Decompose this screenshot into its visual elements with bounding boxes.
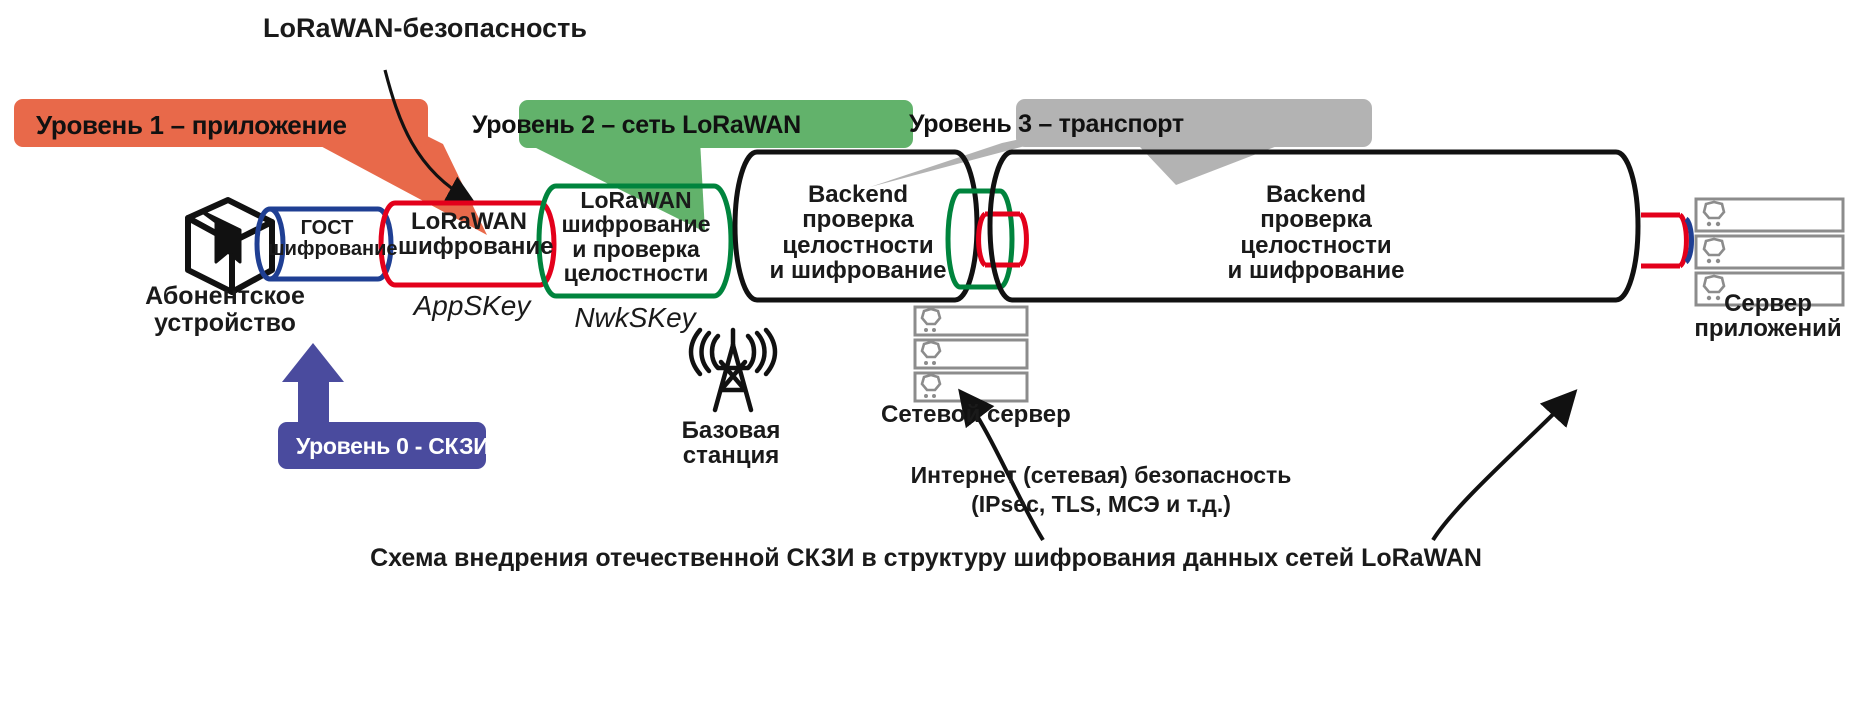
label-network-server: Сетевой сервер — [881, 402, 1061, 427]
server-rack-network-icon — [915, 307, 1027, 401]
tube-backend-2-label: Backend проверка целостности и шифровани… — [1205, 182, 1427, 284]
diagram-caption: Схема внедрения отечественной СКЗИ в стр… — [126, 545, 1726, 572]
label-nwkskey: NwkSKey — [555, 303, 715, 333]
diagram-svg — [0, 0, 1853, 709]
label-base-station: Базовая станция — [656, 418, 806, 469]
tube-gost-label: ГОСТ шифрование — [268, 218, 386, 260]
diagram-canvas: LoRaWAN-безопасность Уровень 1 – приложе… — [0, 0, 1853, 709]
annotation-internet-security-line1: Интернет (сетевая) безопасность — [866, 463, 1336, 487]
connector-tube-red[interactable] — [979, 214, 1027, 265]
label-appskey: AppSKey — [397, 291, 547, 321]
banner-level0-label: Уровень 0 - СКЗИ — [296, 433, 489, 460]
tube-lorawan-net-label: LoRaWAN шифрование и проверка целостност… — [558, 188, 714, 286]
banner-level2-label: Уровень 2 – сеть LoRaWAN — [472, 111, 801, 140]
label-device: Абонентское устройство — [123, 283, 327, 336]
radio-tower-icon — [691, 330, 775, 410]
banner-level1-label: Уровень 1 – приложение — [36, 110, 347, 141]
banner-level3-label: Уровень 3 – транспорт — [909, 110, 1184, 139]
label-app-server: Сервер приложений — [1688, 291, 1848, 342]
internet-security-arrow-right — [1433, 395, 1572, 540]
annotation-internet-security-line2: (IPsec, TLS, МСЭ и т.д.) — [866, 492, 1336, 516]
endpoint-tube-red[interactable] — [1641, 215, 1686, 266]
tube-backend-1-label: Backend проверка целостности и шифровани… — [765, 182, 951, 284]
top-label-lorawan-security: LoRaWAN-безопасность — [255, 14, 595, 43]
tube-lorawan-app-label: LoRaWAN шифрование — [398, 209, 540, 260]
